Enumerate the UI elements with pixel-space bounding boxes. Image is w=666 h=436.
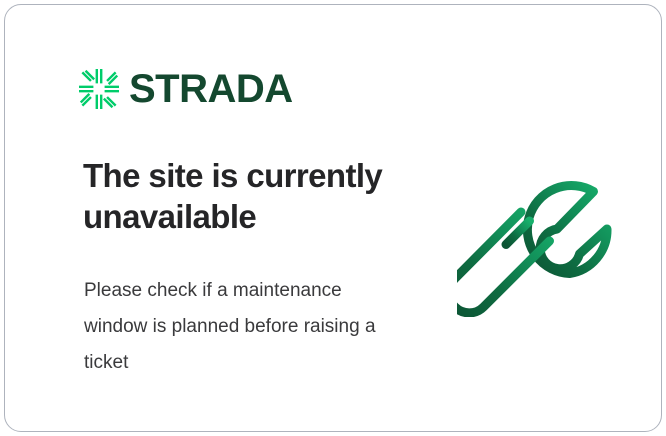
page-description: Please check if a maintenance window is …: [84, 273, 394, 381]
status-card-body: STRADA The site is currently unavailable…: [5, 5, 661, 431]
brand-name: STRADA: [129, 69, 293, 109]
brand-lockup: STRADA: [79, 69, 293, 109]
error-page: STRADA The site is currently unavailable…: [0, 0, 666, 436]
page-title: The site is currently unavailable: [83, 155, 433, 237]
asterisk-starburst-icon: [79, 69, 119, 109]
status-card: STRADA The site is currently unavailable…: [4, 4, 662, 432]
wrench-icon: [457, 155, 619, 317]
